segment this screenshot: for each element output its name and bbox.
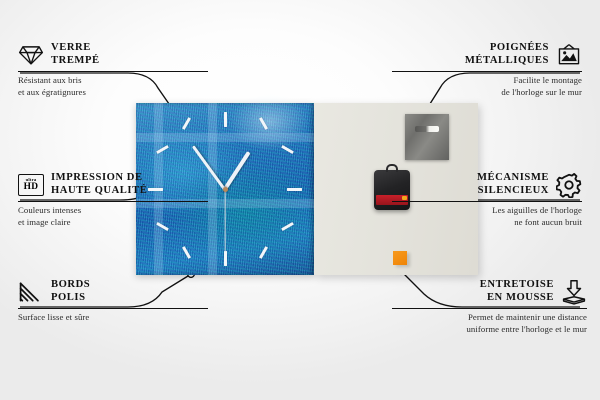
reflection-vertical-2 xyxy=(208,103,217,275)
callout-header: ENTRETOISE EN MOUSSE xyxy=(392,279,587,308)
callout-verre-trempe: VERRE TREMPÉ Résistant aux bris et aux é… xyxy=(18,42,208,98)
hour-marker-5 xyxy=(259,246,268,259)
picture-hanger-icon xyxy=(556,42,582,68)
hour-marker-6 xyxy=(224,251,227,266)
callout-title: IMPRESSION DE HAUTE QUALITÉ xyxy=(51,172,147,198)
callout-bords-polis: BORDS POLIS Surface lisse et sûre xyxy=(18,279,208,324)
callout-subtitle: Les aiguilles de l'horloge ne font aucun… xyxy=(392,202,582,228)
movement-hook xyxy=(386,164,399,172)
callout-entretoise-en-mousse: ENTRETOISE EN MOUSSE Permet de maintenir… xyxy=(392,279,587,335)
callout-title: BORDS POLIS xyxy=(51,279,90,305)
callout-header: MÉCANISME SILENCIEUX xyxy=(392,172,582,201)
callout-subtitle: Surface lisse et sûre xyxy=(18,309,208,323)
callout-subtitle: Permet de maintenir une distance uniform… xyxy=(392,309,587,335)
callout-subtitle: Couleurs intenses et image claire xyxy=(18,202,208,228)
callout-title: MÉCANISME SILENCIEUX xyxy=(477,172,549,198)
hour-marker-4 xyxy=(281,222,294,231)
gear-icon xyxy=(556,172,582,198)
callout-impression-haute-qualite: ultra HD IMPRESSION DE HAUTE QUALITÉ Cou… xyxy=(18,172,208,228)
hour-marker-7 xyxy=(182,246,191,259)
hour-marker-11 xyxy=(182,117,191,130)
metal-hanger-plate xyxy=(405,114,449,160)
reflection-horizontal-1 xyxy=(136,133,314,142)
hour-marker-3 xyxy=(287,188,302,191)
polished-edges-icon xyxy=(18,279,44,305)
callout-subtitle: Résistant aux bris et aux égratignures xyxy=(18,72,208,98)
callout-title: ENTRETOISE EN MOUSSE xyxy=(480,279,554,305)
hour-hand xyxy=(223,151,250,190)
diamond-icon xyxy=(18,42,44,68)
second-hand xyxy=(224,190,225,252)
hanger-slot xyxy=(415,126,440,132)
infographic-canvas: VERRE TREMPÉ Résistant aux bris et aux é… xyxy=(0,0,600,400)
callout-subtitle: Facilite le montage de l'horloge sur le … xyxy=(392,72,582,98)
callout-header: VERRE TREMPÉ xyxy=(18,42,208,71)
glass-highlight xyxy=(229,93,311,151)
callout-title: VERRE TREMPÉ xyxy=(51,42,100,68)
hour-marker-12 xyxy=(224,112,227,127)
hand-pin xyxy=(223,187,228,192)
callout-header: POIGNÉES MÉTALLIQUES xyxy=(392,42,582,71)
callout-poignees-metalliques: POIGNÉES MÉTALLIQUES Facilite le montage… xyxy=(392,42,582,98)
down-arrow-pad-icon xyxy=(561,279,587,305)
callout-header: BORDS POLIS xyxy=(18,279,208,308)
callout-title: POIGNÉES MÉTALLIQUES xyxy=(465,42,549,68)
callout-header: ultra HD IMPRESSION DE HAUTE QUALITÉ xyxy=(18,172,208,201)
orange-foam-spacer xyxy=(393,251,407,265)
callout-mecanisme-silencieux: MÉCANISME SILENCIEUX Les aiguilles de l'… xyxy=(392,172,582,228)
ultra-hd-icon: ultra HD xyxy=(18,174,44,196)
